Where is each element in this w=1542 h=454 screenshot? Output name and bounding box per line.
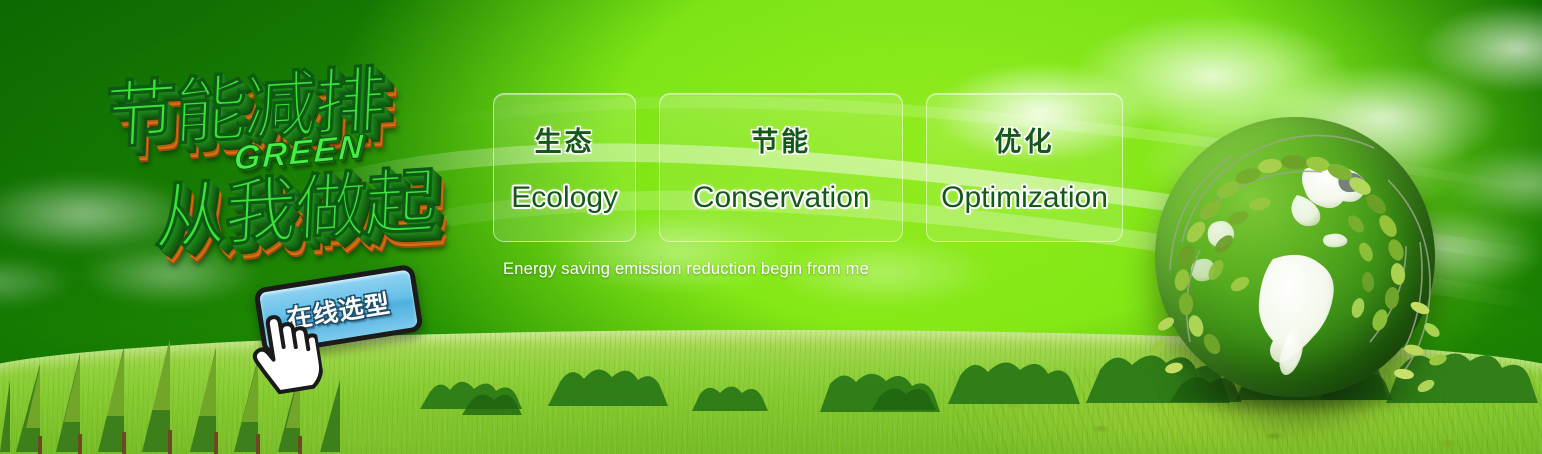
globe-leaves-icon (1120, 92, 1460, 432)
feature-card-title-en: Conservation (693, 181, 870, 215)
hand-pointer-icon (241, 304, 326, 400)
feature-card-conservation[interactable]: 节能 Conservation (659, 93, 903, 242)
banner-tagline: Energy saving emission reduction begin f… (503, 260, 869, 279)
eco-banner: 节能减排 GREEN 从我做起 在线选型 (0, 0, 1542, 454)
feature-card-optimization[interactable]: 优化 Optimization (926, 93, 1123, 242)
feature-card-ecology[interactable]: 生态 Ecology (493, 93, 636, 242)
title-artwork: 节能减排 GREEN 从我做起 (93, 26, 496, 279)
feature-card-title-cn: 节能 (751, 120, 811, 159)
feature-card-title-cn: 优化 (995, 120, 1055, 159)
feature-card-title-en: Ecology (511, 181, 618, 215)
eco-globe-icon (1120, 92, 1460, 432)
feature-card-title-cn: 生态 (535, 120, 595, 159)
feature-card-title-en: Optimization (941, 181, 1108, 215)
feature-card-list: 生态 Ecology 节能 Conservation 优化 Optimizati… (493, 93, 1123, 243)
